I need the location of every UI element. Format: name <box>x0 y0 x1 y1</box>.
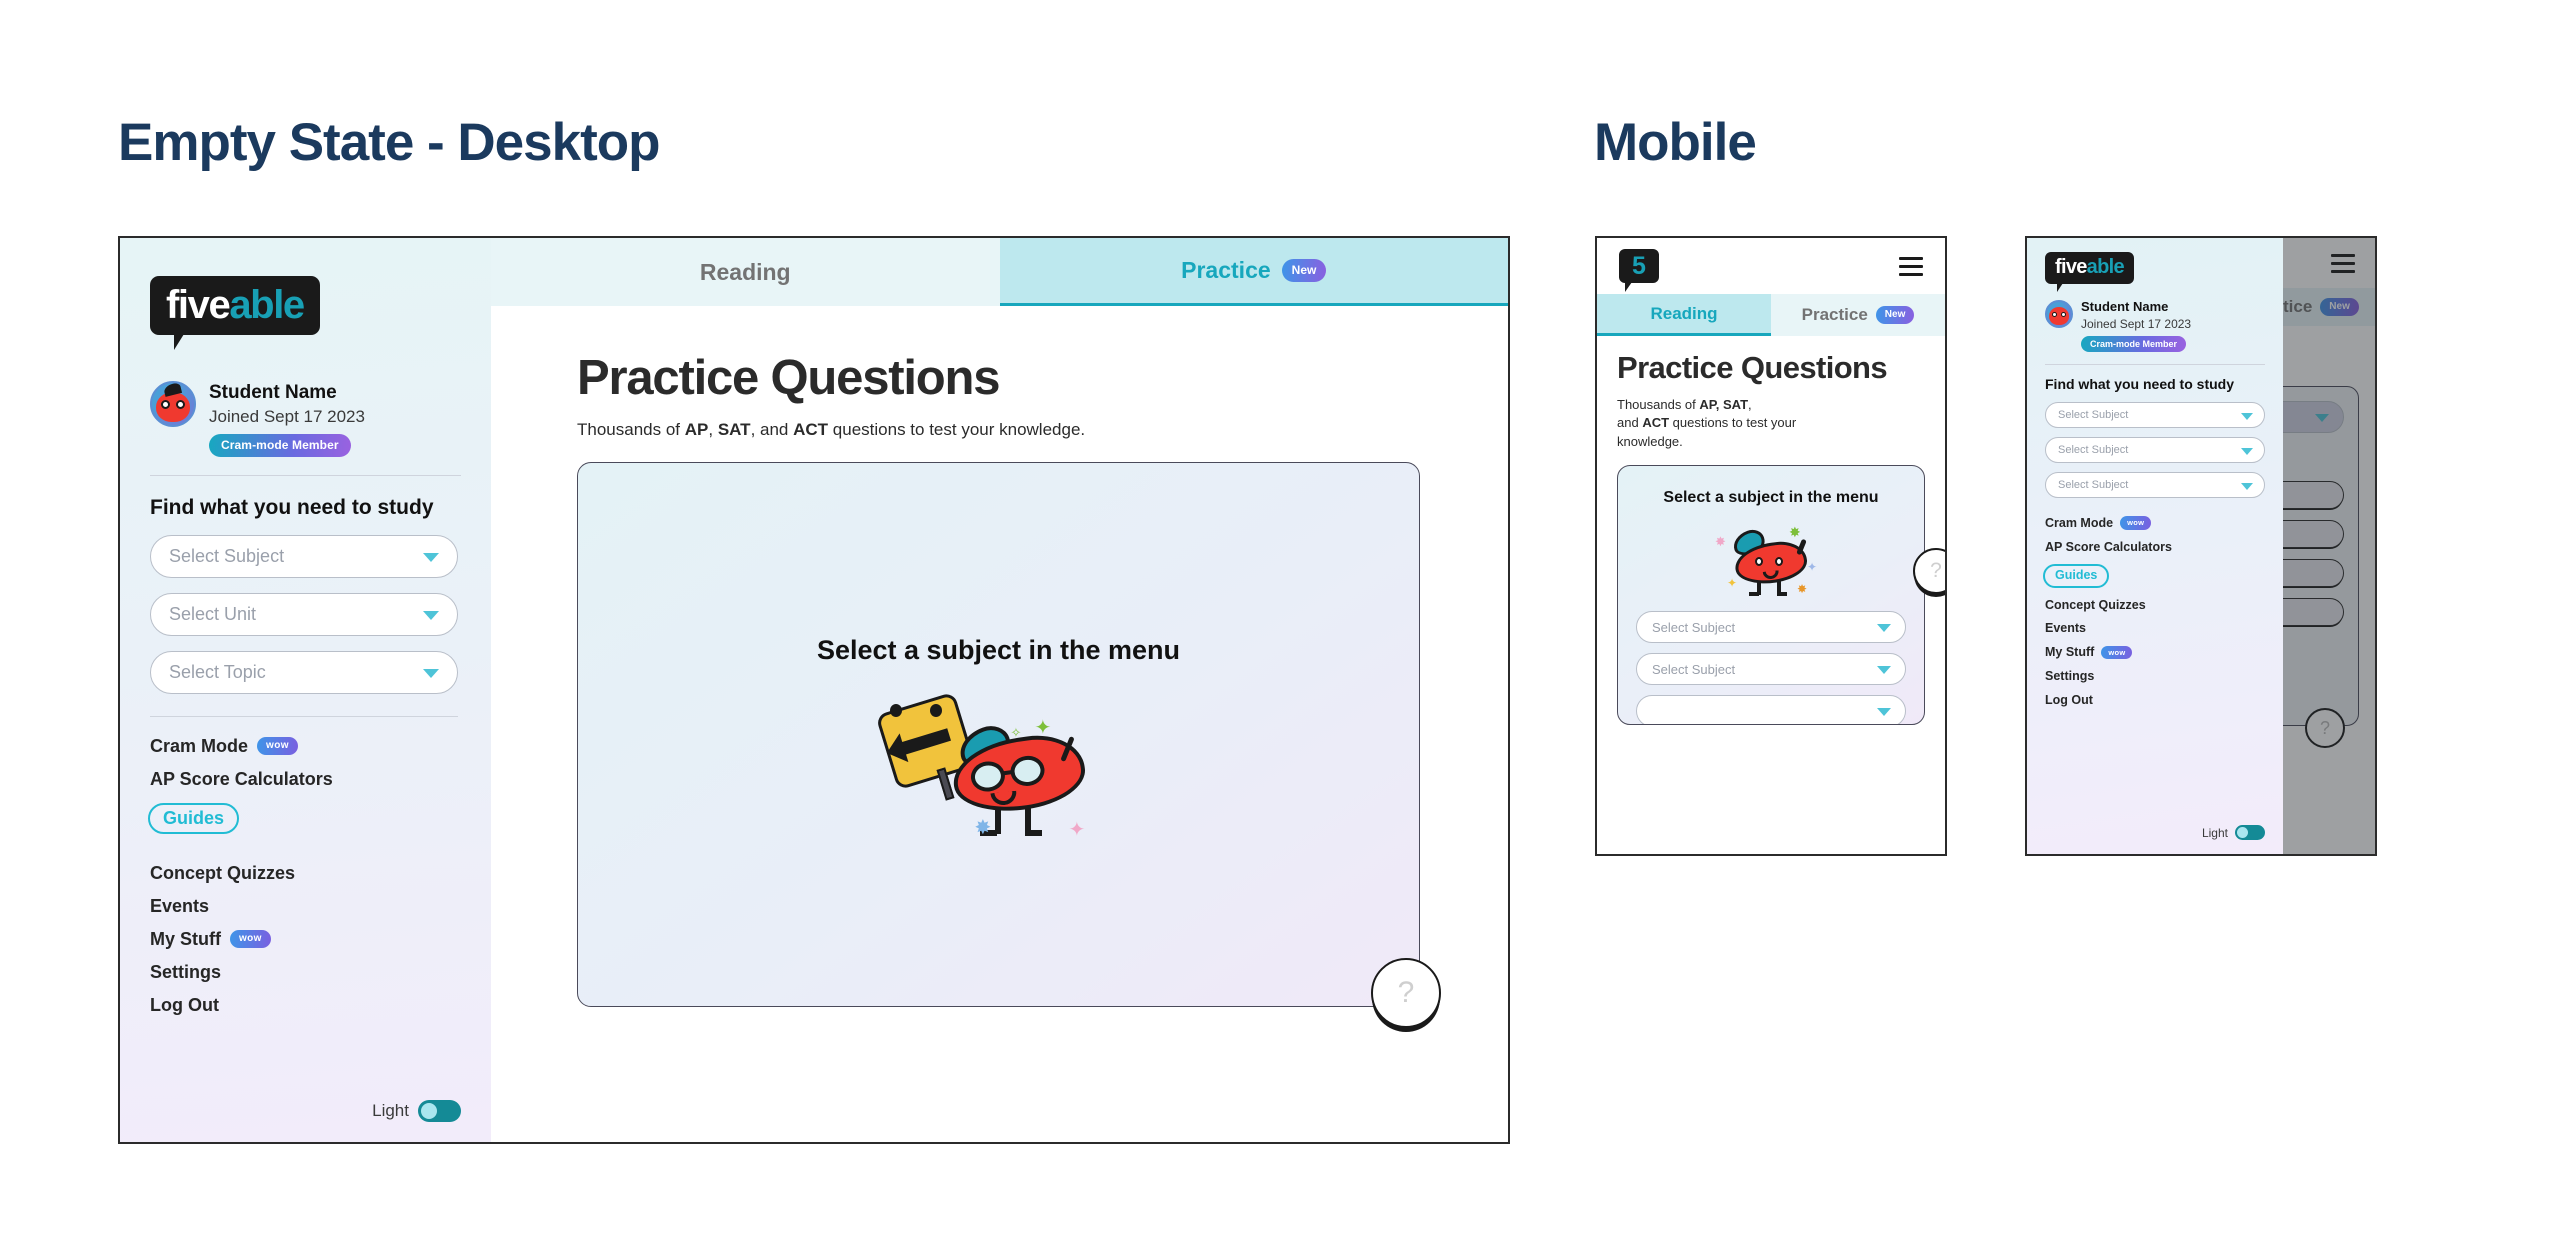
drawer-item-label: AP Score Calculators <box>2045 541 2172 554</box>
sparkle-icon: ✸ <box>975 818 992 838</box>
tab-practice[interactable]: Practice New <box>1000 238 1509 306</box>
main-body: Practice Questions Thousands of AP, SAT,… <box>491 306 1508 1142</box>
sidebar-item-label: Concept Quizzes <box>150 864 295 882</box>
question-mark-icon: ? <box>1930 559 1942 583</box>
select-topic-dropdown[interactable]: Select Topic <box>150 651 458 694</box>
mobile-select-subject-3[interactable] <box>1636 695 1906 725</box>
select-placeholder: Select Subject <box>2058 409 2128 421</box>
sparkle-icon: ✦ <box>1807 561 1817 573</box>
drawer-select-subject-3[interactable]: Select Subject <box>2045 472 2265 498</box>
sidebar-item-concept-quizzes[interactable]: Concept Quizzes <box>150 864 461 882</box>
sidebar-item-log-out[interactable]: Log Out <box>150 996 461 1014</box>
membership-badge: Cram-mode Member <box>2081 336 2186 352</box>
select-unit-dropdown[interactable]: Select Unit <box>150 593 458 636</box>
mobile-select-subject-1[interactable]: Select Subject <box>1636 611 1906 643</box>
mobile-mockup-menu-open: Practice New F a class of n? ? <box>2025 236 2377 856</box>
user-joined-date: Joined Sept 17 2023 <box>2081 317 2191 331</box>
sidebar-item-label: Cram Mode <box>150 737 248 755</box>
sidebar-divider-bottom <box>150 716 458 717</box>
sidebar-item-cram-mode[interactable]: Cram Mode wow <box>150 737 461 755</box>
mobile-page-subtitle: Thousands of AP, SAT, and ACT questions … <box>1617 396 1925 451</box>
sidebar-item-guides-wrap: Guides <box>150 803 461 849</box>
chevron-down-icon <box>2241 483 2253 490</box>
mobile-body: Practice Questions Thousands of AP, SAT,… <box>1597 336 1945 725</box>
new-badge: New <box>1876 306 1915 324</box>
tab-reading[interactable]: Reading <box>491 238 1000 306</box>
desktop-section-heading: Empty State - Desktop <box>118 112 660 173</box>
empty-state-card: Select a subject in the menu ✦ ✧ <box>577 462 1420 1007</box>
drawer-item-label: Log Out <box>2045 694 2093 707</box>
hamburger-menu-icon[interactable] <box>1899 257 1923 276</box>
find-study-heading: Find what you need to study <box>2045 376 2265 394</box>
user-joined-date: Joined Sept 17 2023 <box>209 407 365 427</box>
sparkle-icon: ✸ <box>1789 525 1801 539</box>
mobile-mockup-reading: 5 Reading Practice New Practice Question… <box>1595 236 1947 856</box>
chevron-down-icon <box>1877 624 1891 632</box>
chevron-down-icon <box>1877 666 1891 674</box>
select-subject-dropdown[interactable]: Select Subject <box>150 535 458 578</box>
drawer-select-subject-2[interactable]: Select Subject <box>2045 437 2265 463</box>
drawer-item-settings[interactable]: Settings <box>2045 670 2265 683</box>
drawer-item-label: My Stuff <box>2045 646 2094 659</box>
drawer-nav: Cram Mode wow AP Score Calculators Guide… <box>2045 516 2265 706</box>
tab-label: Reading <box>1650 304 1717 324</box>
mobile-header: 5 <box>1597 238 1945 294</box>
drawer-select-subject-1[interactable]: Select Subject <box>2045 402 2265 428</box>
logo-mini-text: 5 <box>1632 254 1646 279</box>
drawer-item-label: Settings <box>2045 670 2094 683</box>
sidebar-item-label: AP Score Calculators <box>150 770 333 788</box>
select-placeholder: Select Subject <box>2058 479 2128 491</box>
mascot-illustration: ✸ ✸ ✦ ✦ ✸ <box>1711 521 1831 601</box>
sidebar-item-label: Settings <box>150 963 221 981</box>
screenshot-canvas: Empty State - Desktop Mobile fiveable St… <box>0 0 2560 1248</box>
mobile-page-title: Practice Questions <box>1617 352 1925 385</box>
logo-text-five: five <box>166 283 229 327</box>
drawer-item-label: Cram Mode <box>2045 517 2113 530</box>
sidebar-item-label: Guides <box>163 809 224 827</box>
sidebar-item-my-stuff[interactable]: My Stuff wow <box>150 930 461 948</box>
select-topic-placeholder: Select Topic <box>169 662 266 683</box>
sidebar-item-events[interactable]: Events <box>150 897 461 915</box>
mobile-select-subject-2[interactable]: Select Subject <box>1636 653 1906 685</box>
sidebar-divider-top <box>150 475 461 476</box>
page-title: Practice Questions <box>577 350 1408 406</box>
logo-text-able: able <box>2087 256 2124 278</box>
select-subject-placeholder: Select Subject <box>169 546 284 567</box>
user-name: Student Name <box>2081 300 2191 315</box>
drawer-item-label: Concept Quizzes <box>2045 599 2146 612</box>
theme-toggle-row[interactable]: Light <box>372 1100 461 1122</box>
find-study-heading: Find what you need to study <box>150 496 461 520</box>
chevron-down-icon <box>2241 448 2253 455</box>
question-mark-icon: ? <box>1398 976 1415 1010</box>
drawer-item-guides[interactable]: Guides <box>2043 564 2109 588</box>
user-name: Student Name <box>209 382 365 404</box>
select-placeholder: Select Subject <box>1652 620 1735 635</box>
logo-text-five: five <box>2055 256 2087 278</box>
wow-badge: wow <box>230 930 271 948</box>
drawer-item-cram-mode[interactable]: Cram Mode wow <box>2045 516 2265 530</box>
user-profile[interactable]: Student Name Joined Sept 17 2023 Cram-mo… <box>2045 300 2265 352</box>
sidebar-item-ap-score-calculators[interactable]: AP Score Calculators <box>150 770 461 788</box>
sidebar-item-label: Log Out <box>150 996 219 1014</box>
wow-badge: wow <box>257 737 298 755</box>
main-panel: Reading Practice New Practice Questions … <box>491 238 1508 1142</box>
drawer-item-label: Events <box>2045 622 2086 635</box>
drawer-item-ap-score-calculators[interactable]: AP Score Calculators <box>2045 541 2265 554</box>
fiveable-logo[interactable]: fiveable <box>2045 252 2134 284</box>
mobile-nav-drawer: fiveable Student Name Joined Sept 17 202… <box>2027 238 2283 854</box>
new-badge: New <box>1282 259 1327 282</box>
theme-toggle-row[interactable]: Light <box>2202 825 2265 840</box>
drawer-item-concept-quizzes[interactable]: Concept Quizzes <box>2045 599 2265 612</box>
sidebar: fiveable Student Name Joined Sept 17 202… <box>120 238 491 1142</box>
sidebar-item-guides[interactable]: Guides <box>148 803 239 834</box>
drawer-item-label: Guides <box>2055 569 2097 582</box>
drawer-item-events[interactable]: Events <box>2045 622 2265 635</box>
help-button[interactable]: ? <box>1371 958 1441 1028</box>
select-placeholder: Select Subject <box>1652 662 1735 677</box>
mobile-section-heading: Mobile <box>1594 112 1756 173</box>
mobile-tab-bar: Reading Practice New <box>1597 294 1945 336</box>
drawer-item-log-out[interactable]: Log Out <box>2045 694 2265 707</box>
chevron-down-icon <box>423 553 439 562</box>
wow-badge: wow <box>2120 516 2151 530</box>
drawer-item-my-stuff[interactable]: My Stuff wow <box>2045 646 2265 660</box>
user-profile[interactable]: Student Name Joined Sept 17 2023 Cram-mo… <box>150 381 461 457</box>
chevron-down-icon <box>423 611 439 620</box>
mobile-tab-practice[interactable]: Practice New <box>1771 294 1945 336</box>
sidebar-nav: Cram Mode wow AP Score Calculators Guide… <box>150 737 461 1014</box>
chevron-down-icon <box>1877 708 1891 716</box>
sparkle-icon: ✦ <box>1069 820 1086 840</box>
wow-badge: wow <box>2101 646 2132 660</box>
avatar <box>150 381 196 427</box>
theme-toggle-switch[interactable] <box>418 1100 461 1122</box>
select-unit-placeholder: Select Unit <box>169 604 256 625</box>
mascot-illustration: ✦ ✧ ✸ <box>879 696 1119 846</box>
theme-label: Light <box>372 1101 409 1121</box>
sparkle-icon: ✸ <box>1797 583 1807 595</box>
tab-label: Practice <box>1181 257 1271 284</box>
page-subtitle: Thousands of AP, SAT, and ACT questions … <box>577 420 1408 440</box>
tab-label: Reading <box>700 259 791 286</box>
mobile-tab-reading[interactable]: Reading <box>1597 294 1771 336</box>
chevron-down-icon <box>423 669 439 678</box>
sidebar-item-label: Events <box>150 897 209 915</box>
tab-bar: Reading Practice New <box>491 238 1508 306</box>
sidebar-item-settings[interactable]: Settings <box>150 963 461 981</box>
fiveable-logo[interactable]: fiveable <box>150 276 320 335</box>
empty-state-message: Select a subject in the menu <box>817 635 1180 666</box>
mobile-empty-state-card: Select a subject in the menu ✸ ✸ ✦ ✦ <box>1617 465 1925 725</box>
avatar <box>2045 300 2073 328</box>
logo-text-able: able <box>229 283 303 327</box>
chevron-down-icon <box>2241 413 2253 420</box>
sidebar-item-label: My Stuff <box>150 930 221 948</box>
sparkle-icon: ✦ <box>1727 577 1737 589</box>
tab-label: Practice <box>1802 305 1868 325</box>
desktop-mockup-frame: fiveable Student Name Joined Sept 17 202… <box>118 236 1510 1144</box>
theme-label: Light <box>2202 826 2228 840</box>
theme-toggle-switch[interactable] <box>2235 825 2265 840</box>
fiveable-logo-mini[interactable]: 5 <box>1619 249 1659 283</box>
mobile-empty-state-message: Select a subject in the menu <box>1636 488 1906 509</box>
sparkle-icon: ✸ <box>1715 535 1726 548</box>
drawer-divider <box>2045 364 2265 365</box>
membership-badge: Cram-mode Member <box>209 434 351 457</box>
select-placeholder: Select Subject <box>2058 444 2128 456</box>
